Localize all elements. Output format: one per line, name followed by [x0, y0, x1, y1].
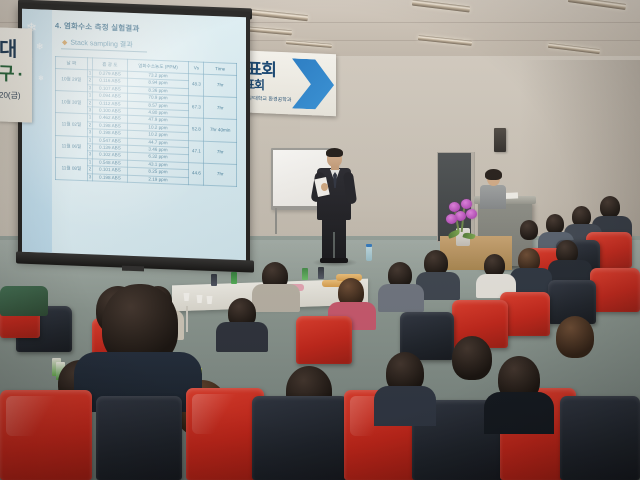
- screen-weight: [122, 266, 144, 272]
- cell-time: 7hr: [204, 74, 237, 97]
- cell-vs: 48.3: [189, 74, 204, 97]
- bottle-cap: [366, 244, 372, 247]
- cell-date: 10월 30일: [56, 91, 88, 114]
- table-body: 10월 29일10.279 ABS73.2 ppm48.37hr20.116 A…: [56, 68, 237, 186]
- event-banner-left: 대 구 · 20(금): [0, 27, 32, 122]
- staff-body: [480, 185, 506, 209]
- audience-head: [452, 336, 492, 380]
- presenter-shoes: [320, 258, 348, 263]
- auditorium-seat[interactable]: [252, 396, 348, 480]
- green-chair[interactable]: [0, 286, 48, 316]
- auditorium-seat[interactable]: [560, 396, 640, 480]
- cell-date: 11월 08일: [56, 157, 88, 180]
- ceiling-light: [568, 0, 626, 10]
- slide-title: 4. 염화수소 측정 실험결과: [55, 20, 140, 34]
- audience-shoulders: [252, 284, 300, 312]
- audience-shoulders: [510, 268, 552, 294]
- banner-left-line2: 구 ·: [0, 59, 23, 86]
- projected-slide: ❄ ❄ ❄ ❄ 4. 염화수소 측정 실험결과 ◆Stack sampling …: [22, 9, 246, 261]
- audience-shoulders: [374, 386, 436, 426]
- water-bottle: [366, 246, 372, 261]
- banner-left-line1: 대: [0, 32, 16, 62]
- auditorium-seat[interactable]: [96, 396, 182, 480]
- cell-time: 7hr: [204, 141, 237, 164]
- cell-ppm: 2.19 ppm: [127, 175, 189, 185]
- audience-head: [556, 316, 594, 358]
- audience-shoulders: [378, 284, 424, 312]
- wall-speaker-icon: [494, 128, 506, 152]
- col-vs: Vs: [189, 62, 204, 75]
- cell-time: 7hr 40min: [204, 119, 237, 142]
- audience-shoulders: [484, 392, 554, 434]
- beverage-can: [211, 274, 217, 286]
- banner-left-line3: 20(금): [0, 89, 21, 101]
- auditorium-seat[interactable]: [296, 316, 352, 364]
- audience-head: [546, 214, 564, 234]
- cell-time: 7hr: [204, 163, 237, 186]
- audience-shoulders: [216, 322, 268, 352]
- cell-vs: 52.8: [189, 118, 204, 141]
- cell-vs: 47.1: [189, 140, 204, 163]
- beverage-can: [302, 268, 308, 280]
- audience-head: [520, 220, 538, 240]
- orchid-flower: [461, 199, 472, 209]
- bullet-icon: ◆: [62, 39, 67, 46]
- chevron-icon: [292, 58, 334, 110]
- lecture-hall-photo: 발표회 표회 대구대학교 환경공학과 ❄ ❄ ❄ ❄ 4. 염화수소 측정 실험…: [0, 0, 640, 480]
- ceiling-light: [412, 0, 470, 13]
- slide-subtitle-text: Stack sampling 결과: [70, 40, 132, 49]
- staff-hair: [485, 169, 502, 180]
- presenter-hair: [326, 148, 343, 157]
- presenter-hand: [321, 183, 328, 191]
- cell-vs: 67.3: [189, 96, 204, 119]
- snowflake-icon: ❄: [38, 75, 44, 82]
- ceiling-light: [418, 35, 472, 46]
- beverage-can: [318, 267, 324, 279]
- orchid-flower: [466, 209, 477, 219]
- cell-abs: 0.198 ABS: [93, 174, 127, 183]
- cell-vs: 44.6: [189, 162, 204, 185]
- beverage-can: [231, 272, 237, 284]
- ceiling-light: [548, 43, 600, 54]
- banner-right-line3: 대구대학교 환경공학과: [244, 94, 291, 103]
- auditorium-seat[interactable]: [590, 268, 640, 312]
- ceiling-light: [246, 9, 308, 21]
- orchid-flower: [446, 214, 457, 224]
- cell-time: 7hr: [204, 96, 237, 119]
- cell-date: 10월 29일: [56, 68, 88, 91]
- cell-date: 11월 06일: [56, 135, 88, 158]
- snowflake-icon: ❄: [36, 42, 44, 51]
- slide-data-table: 날 짜 흡 광 도 염화수소농도 (PPM) Vs Time 10월 29일10…: [55, 56, 237, 187]
- audience-head: [600, 196, 620, 218]
- ceiling-light: [286, 40, 332, 48]
- cell-date: 11월 02일: [56, 113, 88, 136]
